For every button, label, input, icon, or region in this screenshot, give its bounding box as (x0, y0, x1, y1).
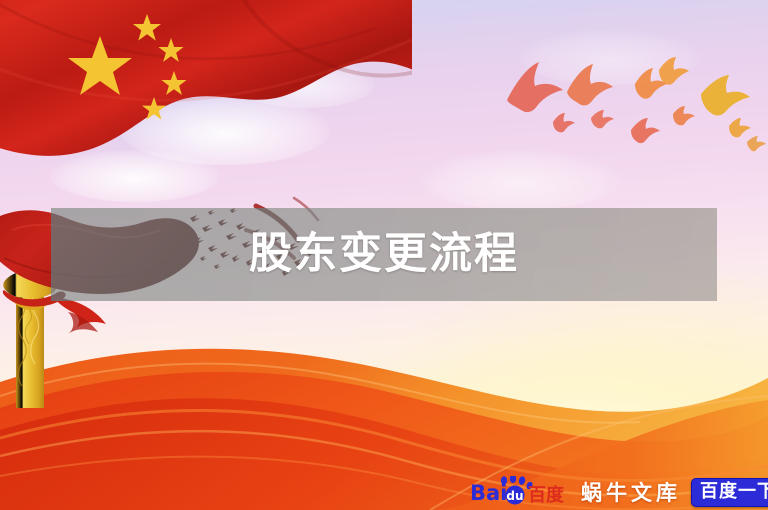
page-title: 股东变更流程 (249, 233, 519, 276)
title-banner: 股东变更流程 (51, 208, 717, 301)
image-canvas: 股东变更流程 Bai du 百度 蜗牛文库 百度一下 (0, 0, 768, 510)
baidu-search-button[interactable]: 百度一下 (691, 478, 768, 507)
flying-birds-flock (495, 52, 768, 162)
watermark-bar: Bai du 百度 蜗牛文库 百度一下 (470, 476, 768, 508)
svg-text:Bai: Bai (470, 481, 507, 505)
chinese-national-flag (0, 0, 412, 168)
svg-text:du: du (506, 489, 523, 503)
svg-text:百度: 百度 (528, 484, 565, 506)
baidu-logo[interactable]: Bai du 百度 (470, 476, 571, 508)
baidu-logo-icon: Bai du 百度 (470, 476, 565, 506)
library-name-label: 蜗牛文库 (581, 477, 681, 507)
